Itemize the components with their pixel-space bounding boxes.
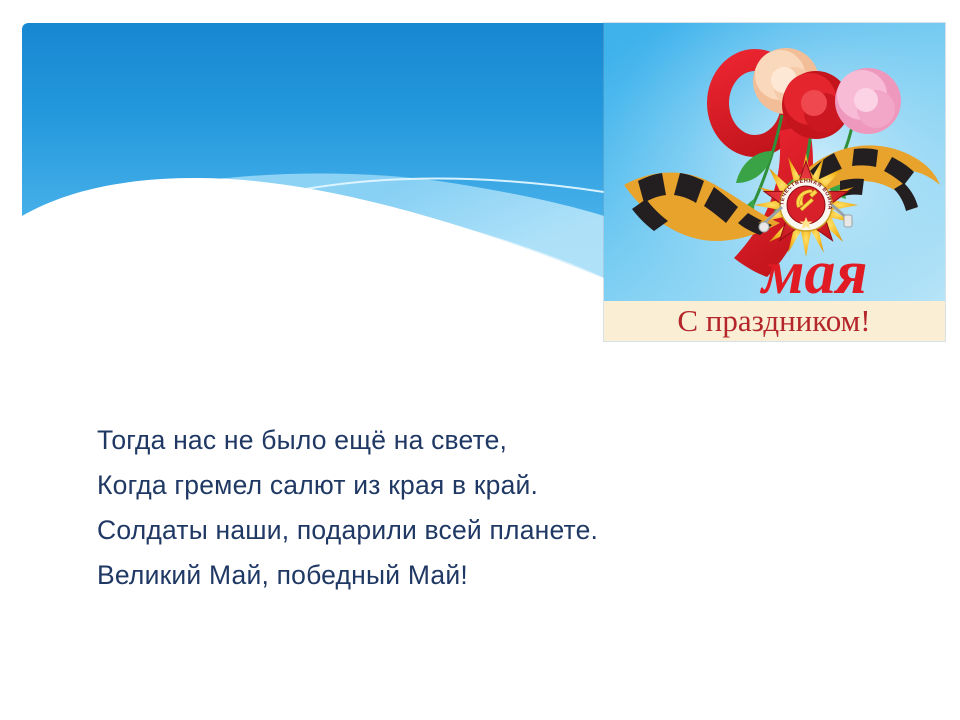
card-month-text: мая	[759, 239, 867, 307]
card-greeting-text: С праздником!	[677, 303, 870, 338]
poem-line-4: Великий Май, победный Май!	[97, 553, 797, 598]
victory-day-card-image[interactable]: ОТЕЧЕСТВЕННАЯ ВОЙНА	[604, 23, 945, 341]
carnation-pink	[835, 68, 901, 134]
banner-decoration-left	[22, 23, 604, 278]
poem-text-block: Тогда нас не было ещё на свете, Когда гр…	[97, 418, 797, 598]
poem-line-3: Солдаты наши, подарили всей планете.	[97, 508, 797, 553]
poem-line-1: Тогда нас не было ещё на свете,	[97, 418, 797, 463]
poem-line-2: Когда гремел салют из края в край.	[97, 463, 797, 508]
slide-canvas: ОТЕЧЕСТВЕННАЯ ВОЙНА	[0, 0, 960, 720]
